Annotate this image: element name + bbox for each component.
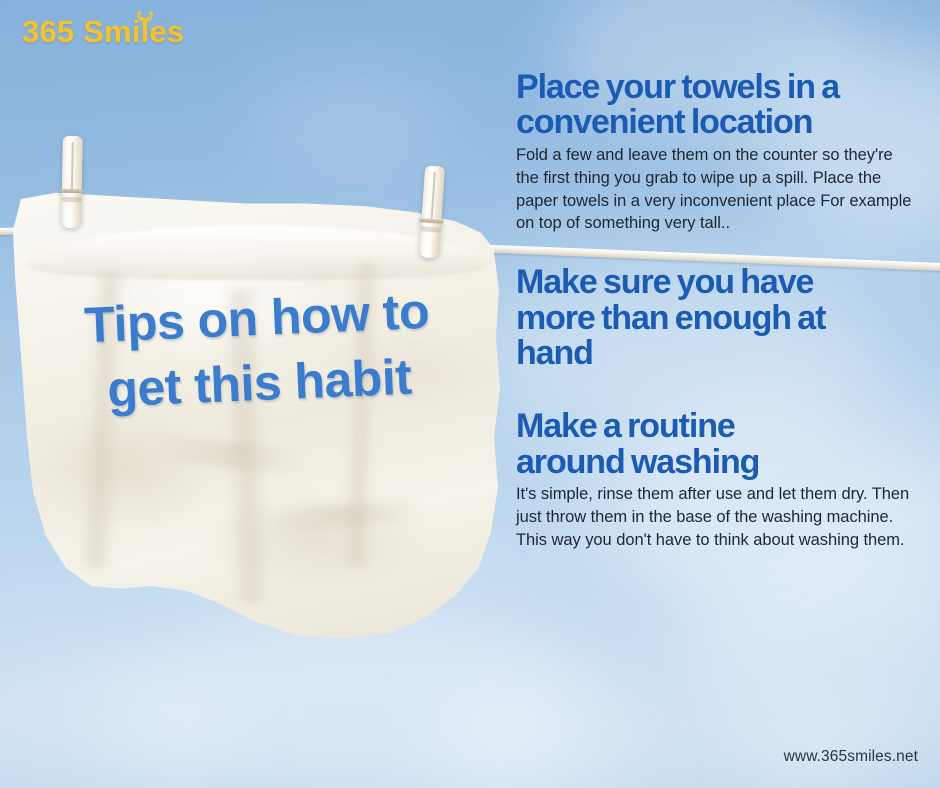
tip-3-heading-line-1: Make a routine [516, 407, 735, 445]
tip-2-heading-line-1: Make sure you have [516, 263, 813, 301]
tip-3-body: It's simple, rinse them after use and le… [516, 483, 912, 552]
cloud-wisp [250, 60, 450, 170]
smiley-face-icon [135, 11, 155, 25]
brand-logo: 365 Smiles [22, 14, 184, 50]
tip-1-body: Fold a few and leave them on the counter… [516, 144, 912, 236]
tip-2-heading-line-3: hand [516, 334, 593, 372]
infographic-poster: 365 Smiles Tips on how to get this habit [0, 0, 940, 788]
tip-3-heading-line-2: around washing [516, 443, 759, 481]
clothespin-left [61, 136, 83, 228]
cloud-wisp [770, 690, 940, 788]
tip-block-1: Place your towels in a convenient locati… [516, 70, 912, 235]
tip-2-heading: Make sure you have more than enough at h… [516, 265, 912, 371]
cloud-wisp [430, 660, 860, 788]
website-url: www.365smiles.net [784, 748, 918, 766]
towel-headline: Tips on how to get this habit [45, 277, 470, 424]
cloud-wisp [0, 640, 220, 788]
tip-block-2: Make sure you have more than enough at h… [516, 265, 912, 371]
brand-logo-text: 365 Smiles [22, 14, 184, 49]
clothespin-notch [62, 197, 82, 202]
tip-2-heading-line-2: more than enough at [516, 299, 825, 337]
towel-headline-line-1: Tips on how to [83, 283, 430, 353]
tip-1-heading: Place your towels in a convenient locati… [516, 70, 912, 141]
tip-block-3: Make a routine around washing It's simpl… [516, 409, 912, 551]
tip-1-heading-line-2: convenient location [516, 103, 812, 141]
cloud-wisp [690, 560, 940, 740]
tip-3-heading: Make a routine around washing [516, 409, 912, 480]
tip-1-heading-line-1: Place your towels in a [516, 68, 839, 106]
tips-column: Place your towels in a convenient locati… [516, 70, 912, 552]
